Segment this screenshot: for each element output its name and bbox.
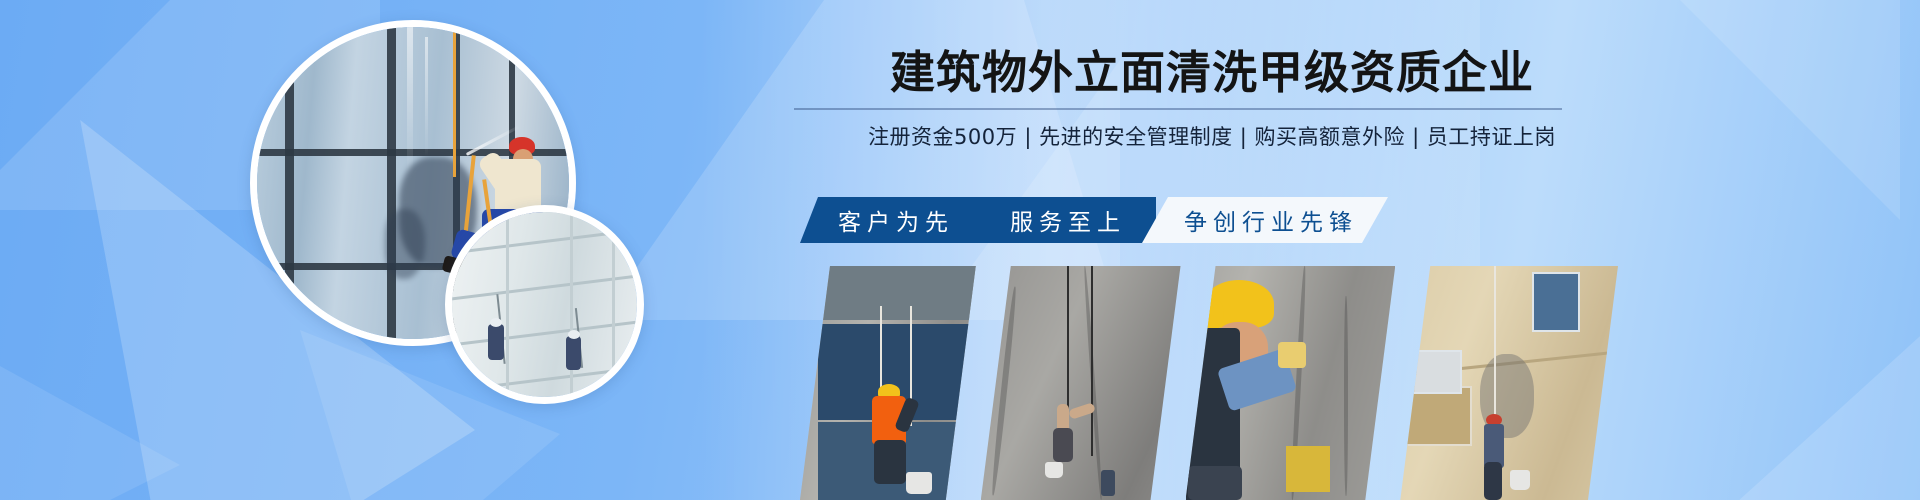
pale-facade-photo — [452, 212, 637, 397]
promo-banner: 建筑物外立面清洗甲级资质企业 注册资金500万 | 先进的安全管理制度 | 购买… — [0, 0, 1920, 500]
photo-circle-small — [445, 205, 644, 404]
bg-triangle-7 — [1640, 250, 1920, 500]
slogan-bar: 客户为先 服务至上 争创行业先锋 — [800, 197, 1388, 243]
photo-strip — [800, 266, 1618, 500]
strip-photo-4 — [1400, 266, 1618, 500]
strip-photo-2 — [981, 266, 1181, 500]
page-title: 建筑物外立面清洗甲级资质企业 — [792, 48, 1632, 98]
strip-photo-1 — [800, 266, 976, 500]
subtitle-features: 注册资金500万 | 先进的安全管理制度 | 购买高额意外险 | 员工持证上岗 — [792, 121, 1632, 151]
slogan-item-3: 争创行业先锋 — [1142, 197, 1388, 243]
text-block: 建筑物外立面清洗甲级资质企业 注册资金500万 | 先进的安全管理制度 | 购买… — [792, 48, 1632, 151]
title-underline — [794, 108, 1562, 110]
strip-photo-3 — [1186, 266, 1396, 500]
slogan-item-2: 服务至上 — [980, 197, 1156, 243]
slogan-item-1: 客户为先 — [800, 197, 980, 243]
